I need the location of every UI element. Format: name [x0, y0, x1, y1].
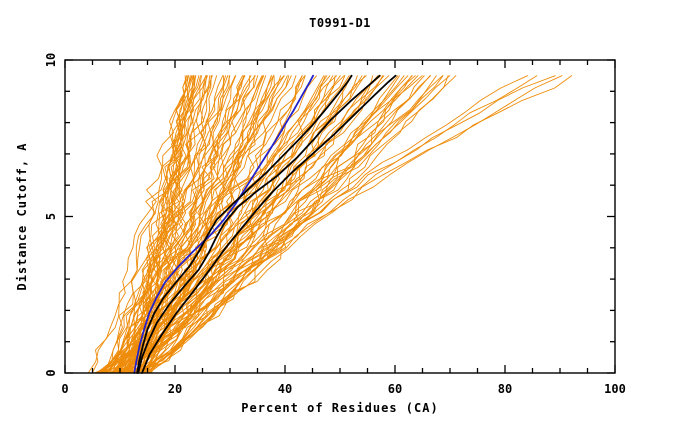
x-tick-label: 60: [388, 382, 402, 396]
x-axis-label: Percent of Residues (CA): [241, 401, 438, 415]
x-tick-label: 80: [498, 382, 512, 396]
x-tick-label: 40: [278, 382, 292, 396]
x-tick-label: 100: [604, 382, 626, 396]
distance-cutoff-plot: 0204060801000510Percent of Residues (CA)…: [0, 0, 680, 440]
x-tick-label: 20: [168, 382, 182, 396]
plot-axes: 0204060801000510Percent of Residues (CA)…: [15, 53, 626, 415]
y-tick-label: 10: [44, 53, 58, 67]
chart-root: T0991-D1 0204060801000510Percent of Resi…: [0, 0, 680, 440]
y-tick-label: 0: [44, 369, 58, 376]
x-tick-label: 0: [61, 382, 68, 396]
y-axis-label: Distance Cutoff, A: [15, 142, 29, 290]
y-tick-label: 5: [44, 213, 58, 220]
